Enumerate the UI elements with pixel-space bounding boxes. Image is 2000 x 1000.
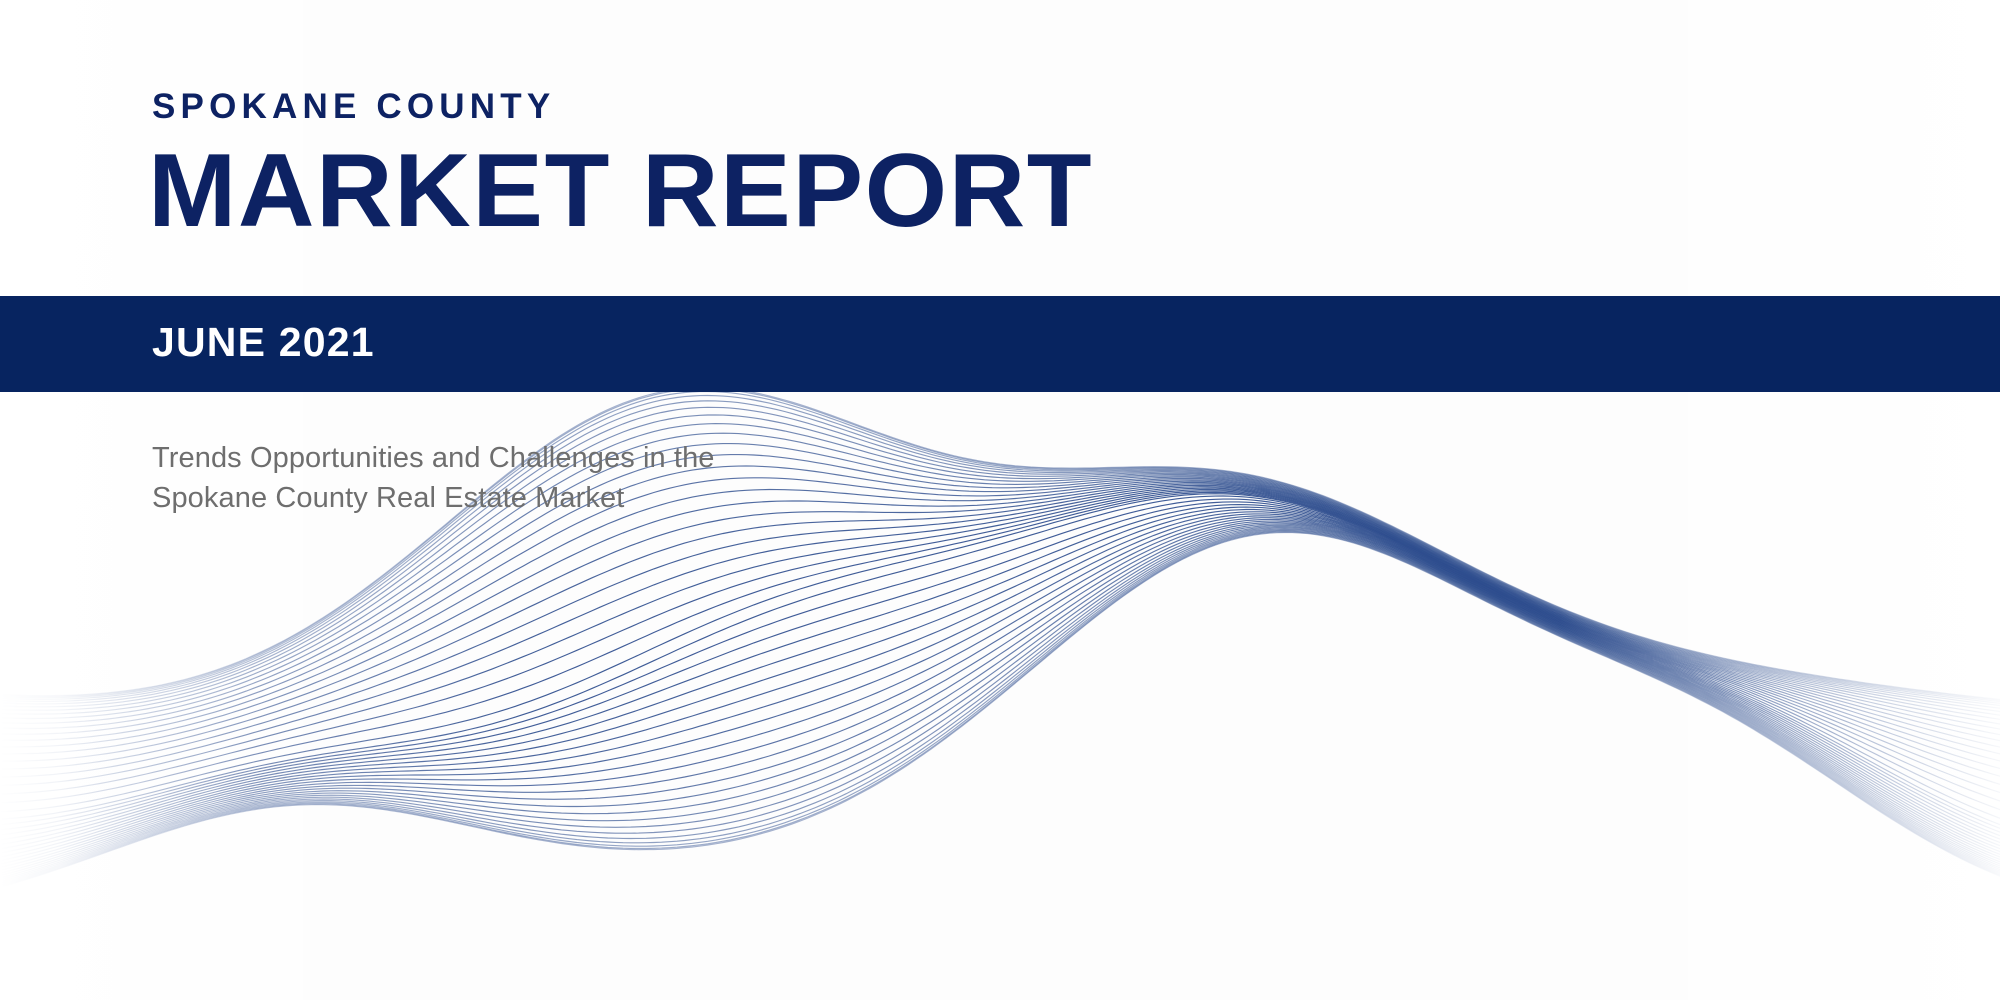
wave-line [0, 491, 2000, 801]
report-date-label: JUNE 2021 [152, 322, 375, 363]
subtitle-line-1: Trends Opportunities and Challenges in t… [152, 438, 715, 478]
wave-line [0, 388, 2000, 700]
subtitle: Trends Opportunities and Challenges in t… [152, 438, 715, 518]
subtitle-line-2: Spokane County Real Estate Market [152, 478, 715, 518]
wave-line [0, 485, 2000, 768]
wave-line [0, 496, 2000, 825]
wave-line [0, 527, 2000, 878]
eyebrow-heading: SPOKANE COUNTY [152, 89, 555, 124]
wave-line [0, 525, 2000, 875]
wave-line [0, 512, 2000, 849]
wave-line [0, 484, 2000, 761]
wave-line [0, 532, 2000, 887]
wave-line [0, 519, 2000, 864]
wave-line [0, 510, 2000, 845]
wave-line [0, 533, 2000, 888]
date-band: JUNE 2021 [0, 296, 2000, 392]
wave-line [0, 481, 2000, 747]
page-title: MARKET REPORT [148, 139, 1093, 243]
wave-line [0, 494, 2000, 819]
wave-line [0, 524, 2000, 873]
wave-line [0, 530, 2000, 884]
wave-line [0, 499, 2000, 828]
wave-line [0, 514, 2000, 853]
report-cover-page: SPOKANE COUNTY MARKET REPORT JUNE 2021 T… [0, 0, 2000, 1000]
wave-line [0, 516, 2000, 857]
wave-line [0, 502, 2000, 832]
wave-line [0, 529, 2000, 882]
wave-line [0, 507, 2000, 840]
wave-line [0, 487, 2000, 777]
wave-line [0, 521, 2000, 867]
wave-line [0, 531, 2000, 886]
wave-line [0, 389, 2000, 701]
wave-line [0, 483, 2000, 754]
wave-line [0, 492, 2000, 809]
wave-line [0, 505, 2000, 836]
wave-line [0, 490, 2000, 793]
wave-line [0, 488, 2000, 784]
wave-line [0, 530, 2000, 884]
wave-line [0, 518, 2000, 861]
wave-line [0, 523, 2000, 871]
wave-line [0, 528, 2000, 880]
